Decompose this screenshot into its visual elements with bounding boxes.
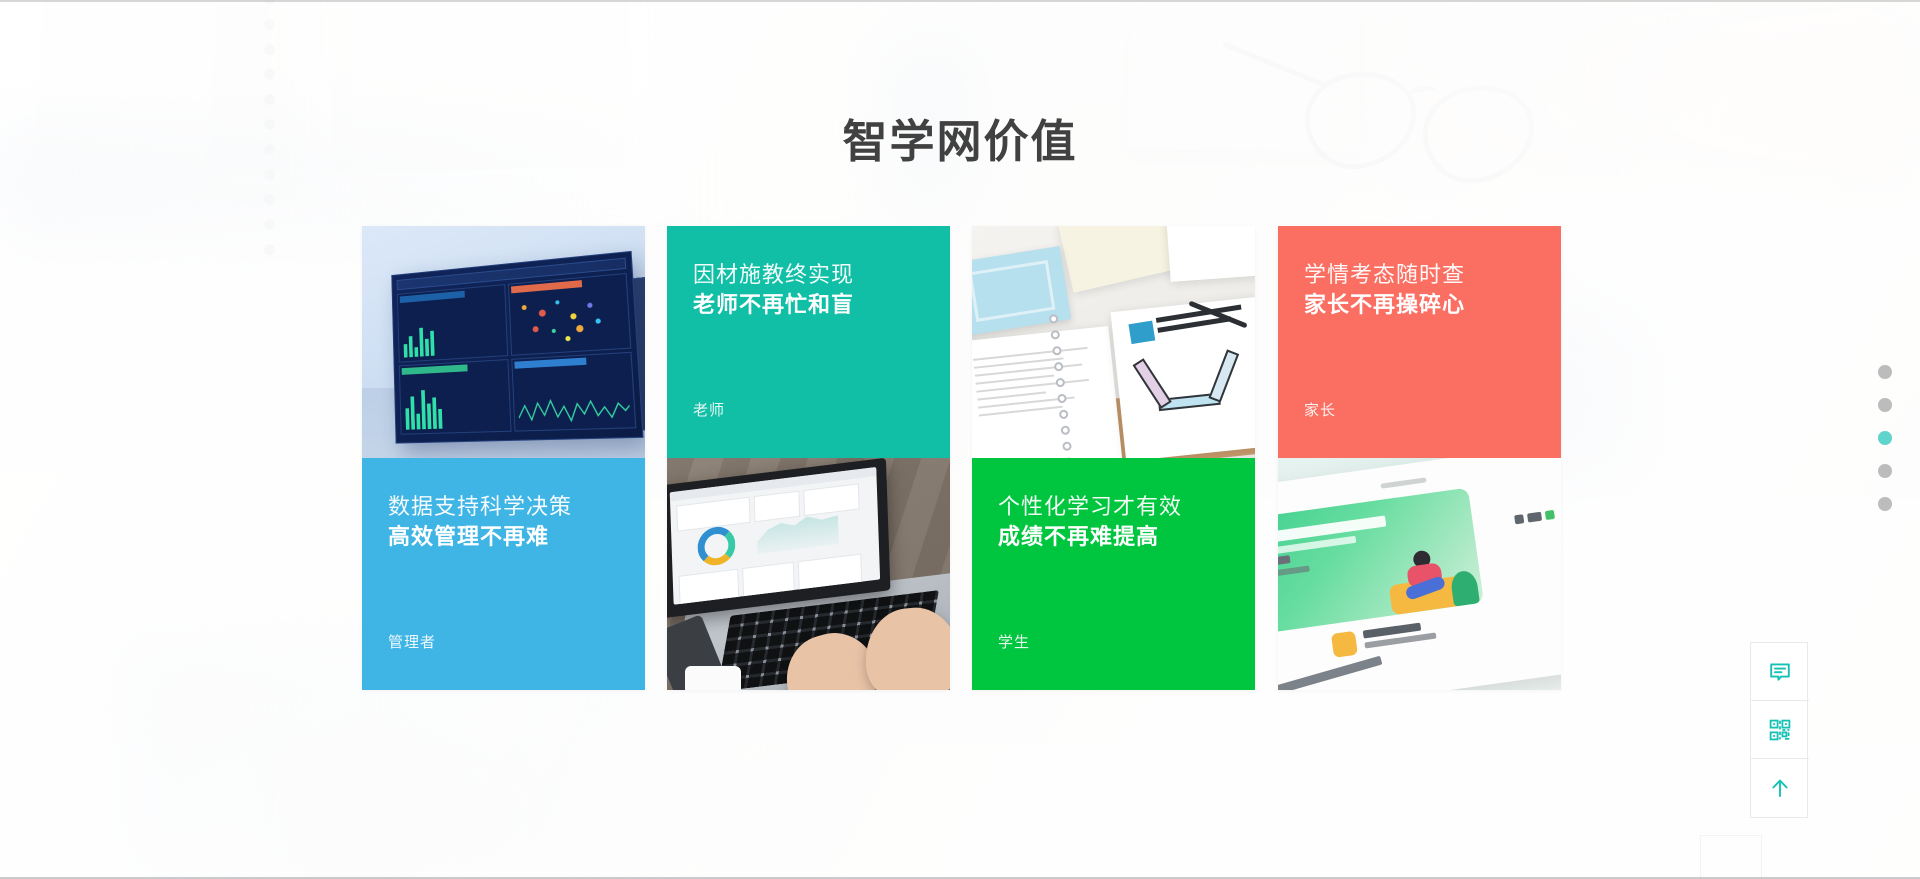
back-to-top-button[interactable] [1751, 759, 1809, 817]
pagination-dot-4[interactable] [1878, 464, 1892, 478]
qrcode-button[interactable] [1751, 701, 1809, 759]
value-card-student[interactable]: 个性化学习才有效 成绩不再难提高 学生 [972, 226, 1255, 690]
pagination-dot-3[interactable] [1878, 431, 1892, 445]
value-card-parent[interactable]: 学情考态随时查 家长不再操碎心 家长 [1278, 226, 1561, 690]
arrow-up-icon [1768, 776, 1792, 800]
card-role-label: 管理者 [388, 631, 436, 652]
card-headline-2: 家长不再操碎心 [1304, 290, 1535, 319]
card-image-phone-app [1278, 458, 1561, 690]
card-role-label: 老师 [693, 399, 725, 420]
value-card-administrator[interactable]: 数据支持科学决策 高效管理不再难 管理者 [362, 226, 645, 690]
card-headline-2: 成绩不再难提高 [998, 522, 1229, 551]
section-pagination-dots[interactable] [1878, 365, 1894, 530]
pagination-dot-5[interactable] [1878, 497, 1892, 511]
card-copy-student: 个性化学习才有效 成绩不再难提高 学生 [972, 458, 1255, 690]
value-card-grid: 数据支持科学决策 高效管理不再难 管理者 因材施教终实现 老师不再忙和盲 老师 [362, 226, 1562, 690]
card-role-label: 学生 [998, 631, 1030, 652]
floating-action-rail [1750, 642, 1808, 818]
card-role-label: 家长 [1304, 399, 1336, 420]
card-headline-2: 老师不再忙和盲 [693, 290, 924, 319]
page-title: 智学网价值 [0, 105, 1920, 170]
chat-button[interactable] [1751, 643, 1809, 701]
value-card-teacher[interactable]: 因材施教终实现 老师不再忙和盲 老师 [667, 226, 950, 690]
card-image-laptop [667, 458, 950, 690]
card-image-notebook [972, 226, 1255, 458]
card-copy-teacher: 因材施教终实现 老师不再忙和盲 老师 [667, 226, 950, 458]
card-headline-1: 因材施教终实现 [693, 261, 924, 290]
qr-code-icon [1768, 718, 1792, 742]
card-copy-parent: 学情考态随时查 家长不再操碎心 家长 [1278, 226, 1561, 458]
card-image-bi-dashboard [362, 226, 645, 458]
chat-bubble-icon [1768, 660, 1792, 684]
card-headline-1: 数据支持科学决策 [388, 493, 619, 522]
viewport-top-border [0, 0, 1920, 2]
card-headline-2: 高效管理不再难 [388, 522, 619, 551]
background-paper-sheet [1700, 835, 1762, 879]
pagination-dot-2[interactable] [1878, 398, 1892, 412]
card-copy-administrator: 数据支持科学决策 高效管理不再难 管理者 [362, 458, 645, 690]
pagination-dot-1[interactable] [1878, 365, 1892, 379]
card-headline-1: 学情考态随时查 [1304, 261, 1535, 290]
card-headline-1: 个性化学习才有效 [998, 493, 1229, 522]
